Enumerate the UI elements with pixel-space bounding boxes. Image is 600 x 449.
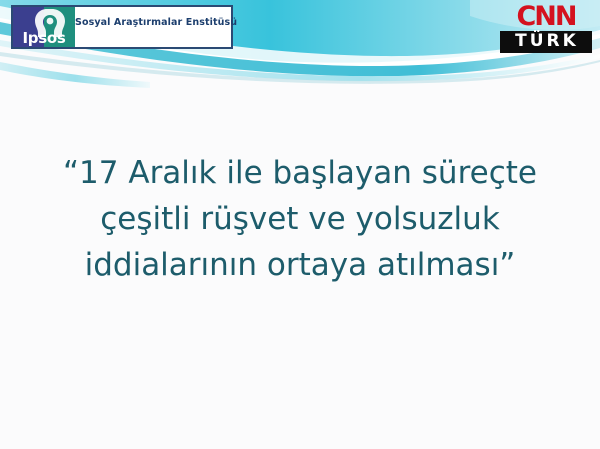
ipsos-logo-mark: Ipsos [13, 7, 75, 47]
presentation-slide: Ipsos Sosyal Araştırmalar Enstitüsü CNN … [0, 0, 600, 449]
quote-line: iddialarının ortaya atılması” [30, 242, 570, 288]
quote-text-block: “17 Aralık ile başlayan süreçte çeşitli … [30, 150, 570, 288]
cnn-turk-subbrand-text: TÜRK [500, 31, 592, 53]
ipsos-logo: Ipsos Sosyal Araştırmalar Enstitüsü [11, 5, 233, 49]
quote-line: “17 Aralık ile başlayan süreçte [30, 150, 570, 196]
quote-line: çeşitli rüşvet ve yolsuzluk [30, 196, 570, 242]
ipsos-tagline: Sosyal Araştırmalar Enstitüsü [75, 7, 237, 47]
ipsos-wordmark: Ipsos [13, 31, 75, 46]
cnn-brand-text: CNN [500, 3, 592, 30]
cnn-turk-logo: CNN TÜRK [500, 3, 592, 53]
